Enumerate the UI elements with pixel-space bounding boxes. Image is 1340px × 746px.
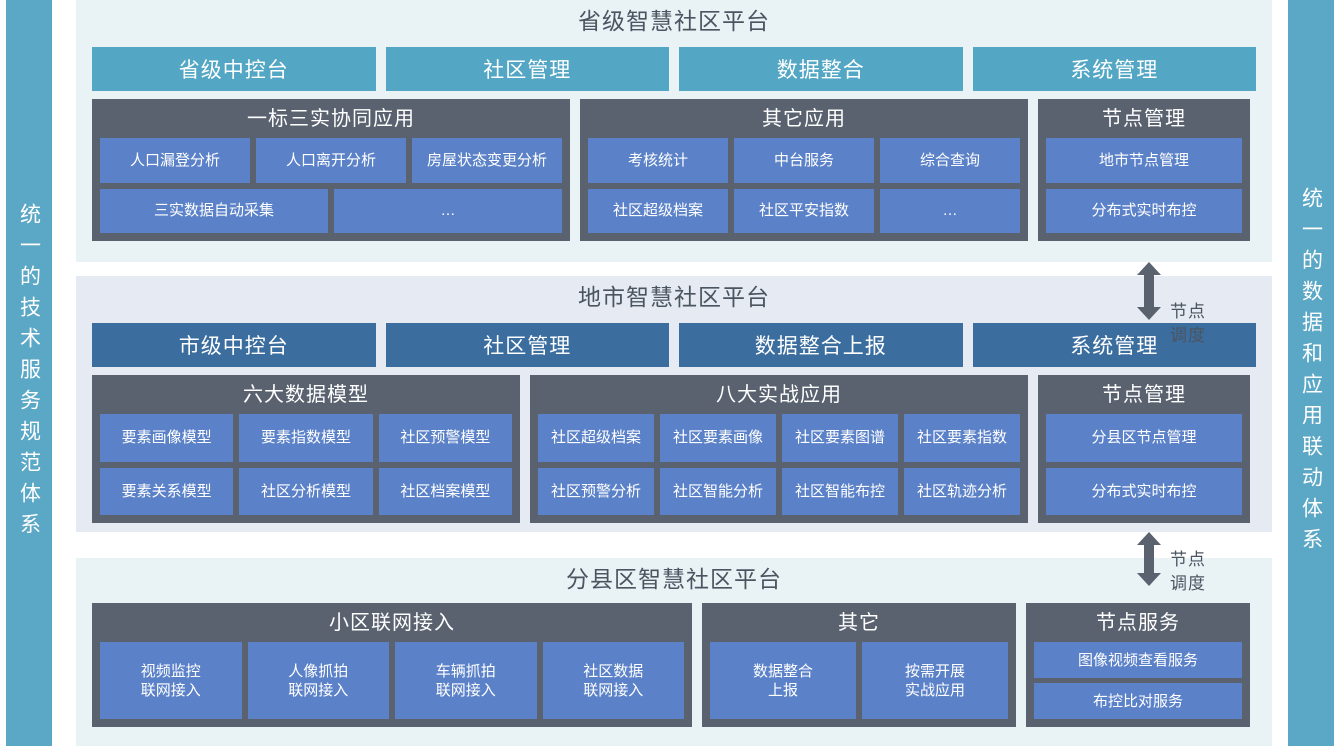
group-title: 其它: [710, 609, 1008, 637]
tile[interactable]: 人像抓拍 联网接入: [248, 642, 390, 719]
tile-grid: 分县区节点管理 分布式实时布控: [1046, 414, 1242, 515]
tile[interactable]: 布控比对服务: [1034, 683, 1242, 719]
tile-row: 图像视频查看服务: [1034, 642, 1242, 678]
tile[interactable]: 中台服务: [734, 138, 874, 183]
tile[interactable]: 社区要素指数: [904, 414, 1020, 462]
tile-row: 考核统计 中台服务 综合查询: [588, 138, 1020, 183]
tile[interactable]: 人口漏登分析: [100, 138, 250, 183]
tile-row: 要素关系模型 社区分析模型 社区档案模型: [100, 468, 512, 516]
left-side-bar: 统一的技术服务规范体系: [6, 0, 52, 746]
tile[interactable]: 要素关系模型: [100, 468, 233, 516]
district-platform-panel: 分县区智慧社区平台 小区联网接入 视频监控 联网接入 人像抓拍 联网接入 车辆抓…: [76, 558, 1272, 746]
right-side-bar: 统一的数据和应用联动体系: [1288, 0, 1334, 746]
province-nav-item-1[interactable]: 社区管理: [386, 47, 670, 91]
tile[interactable]: 视频监控 联网接入: [100, 642, 242, 719]
city-nav-item-2[interactable]: 数据整合上报: [679, 323, 963, 367]
tile[interactable]: 图像视频查看服务: [1034, 642, 1242, 678]
tile[interactable]: 社区平安指数: [734, 189, 874, 234]
province-nav-item-0[interactable]: 省级中控台: [92, 47, 376, 91]
tile-grid: 数据整合 上报 按需开展 实战应用: [710, 642, 1008, 719]
province-panel-title: 省级智慧社区平台: [76, 0, 1272, 33]
tile[interactable]: 分布式实时布控: [1046, 468, 1242, 516]
tile[interactable]: 社区智能布控: [782, 468, 898, 516]
tile-row: 人口漏登分析 人口离开分析 房屋状态变更分析: [100, 138, 562, 183]
group-title: 节点服务: [1034, 609, 1242, 637]
tile[interactable]: 社区档案模型: [379, 468, 512, 516]
node-dispatch-arrow-upper: [1136, 262, 1162, 320]
district-group-other: 其它 数据整合 上报 按需开展 实战应用: [702, 603, 1016, 727]
tile[interactable]: 三实数据自动采集: [100, 189, 328, 234]
tile-row: 社区预警分析 社区智能分析 社区智能布控 社区轨迹分析: [538, 468, 1020, 516]
province-platform-panel: 省级智慧社区平台 省级中控台 社区管理 数据整合 系统管理 一标三实协同应用 人…: [76, 0, 1272, 262]
province-group-coordinated-app: 一标三实协同应用 人口漏登分析 人口离开分析 房屋状态变更分析 三实数据自动采集…: [92, 99, 570, 241]
group-title: 六大数据模型: [100, 381, 512, 409]
tile[interactable]: 考核统计: [588, 138, 728, 183]
tile[interactable]: 社区要素图谱: [782, 414, 898, 462]
tile-grid: 人口漏登分析 人口离开分析 房屋状态变更分析 三实数据自动采集 …: [100, 138, 562, 233]
city-group-node-management: 节点管理 分县区节点管理 分布式实时布控: [1038, 375, 1250, 523]
group-title: 节点管理: [1046, 105, 1242, 133]
city-nav-item-1[interactable]: 社区管理: [386, 323, 670, 367]
province-nav-item-2[interactable]: 数据整合: [679, 47, 963, 91]
node-dispatch-label-lower: 节点 调度: [1170, 548, 1206, 596]
tile[interactable]: 分县区节点管理: [1046, 414, 1242, 462]
district-group-row: 小区联网接入 视频监控 联网接入 人像抓拍 联网接入 车辆抓拍 联网接入 社区数…: [92, 603, 1256, 727]
tile[interactable]: 综合查询: [880, 138, 1020, 183]
tile-row: 要素画像模型 要素指数模型 社区预警模型: [100, 414, 512, 462]
group-title: 小区联网接入: [100, 609, 684, 637]
tile[interactable]: …: [880, 189, 1020, 234]
tile[interactable]: 社区超级档案: [588, 189, 728, 234]
tile-row: 分布式实时布控: [1046, 189, 1242, 234]
node-dispatch-arrow-lower: [1136, 532, 1162, 586]
tile[interactable]: 地市节点管理: [1046, 138, 1242, 183]
tile[interactable]: 社区数据 联网接入: [543, 642, 685, 719]
province-group-row: 一标三实协同应用 人口漏登分析 人口离开分析 房屋状态变更分析 三实数据自动采集…: [92, 99, 1256, 241]
tile-row: 三实数据自动采集 …: [100, 189, 562, 234]
tile[interactable]: 数据整合 上报: [710, 642, 856, 719]
left-side-bar-label: 统一的技术服务规范体系: [19, 203, 40, 544]
city-panel-title: 地市智慧社区平台: [76, 276, 1272, 309]
tile[interactable]: 社区超级档案: [538, 414, 654, 462]
tile-row: 分布式实时布控: [1046, 468, 1242, 516]
right-side-bar-label: 统一的数据和应用联动体系: [1301, 187, 1322, 559]
province-nav-item-3[interactable]: 系统管理: [973, 47, 1257, 91]
tile-grid: 社区超级档案 社区要素画像 社区要素图谱 社区要素指数 社区预警分析 社区智能分…: [538, 414, 1020, 515]
tile[interactable]: 按需开展 实战应用: [862, 642, 1008, 719]
tile-grid: 图像视频查看服务 布控比对服务: [1034, 642, 1242, 719]
tile-row: 布控比对服务: [1034, 683, 1242, 719]
tile[interactable]: 分布式实时布控: [1046, 189, 1242, 234]
tile-row: 数据整合 上报 按需开展 实战应用: [710, 642, 1008, 719]
city-group-data-models: 六大数据模型 要素画像模型 要素指数模型 社区预警模型 要素关系模型 社区分析模…: [92, 375, 520, 523]
tile[interactable]: 要素指数模型: [239, 414, 372, 462]
tile-row: 社区超级档案 社区要素画像 社区要素图谱 社区要素指数: [538, 414, 1020, 462]
tile-grid: 考核统计 中台服务 综合查询 社区超级档案 社区平安指数 …: [588, 138, 1020, 233]
city-platform-panel: 地市智慧社区平台 市级中控台 社区管理 数据整合上报 系统管理 六大数据模型 要…: [76, 276, 1272, 532]
architecture-diagram: 统一的技术服务规范体系 统一的数据和应用联动体系 省级智慧社区平台 省级中控台 …: [0, 0, 1340, 746]
city-group-practical-apps: 八大实战应用 社区超级档案 社区要素画像 社区要素图谱 社区要素指数 社区预警分…: [530, 375, 1028, 523]
tile[interactable]: 社区预警分析: [538, 468, 654, 516]
city-nav-item-0[interactable]: 市级中控台: [92, 323, 376, 367]
district-group-community-network-access: 小区联网接入 视频监控 联网接入 人像抓拍 联网接入 车辆抓拍 联网接入 社区数…: [92, 603, 692, 727]
tile[interactable]: 社区智能分析: [660, 468, 776, 516]
node-dispatch-label-upper: 节点 调度: [1170, 300, 1206, 348]
tile-row: 地市节点管理: [1046, 138, 1242, 183]
district-panel-title: 分县区智慧社区平台: [76, 558, 1272, 591]
group-title: 节点管理: [1046, 381, 1242, 409]
tile-grid: 视频监控 联网接入 人像抓拍 联网接入 车辆抓拍 联网接入 社区数据 联网接入: [100, 642, 684, 719]
city-nav-item-3[interactable]: 系统管理: [973, 323, 1257, 367]
tile[interactable]: 社区轨迹分析: [904, 468, 1020, 516]
tile[interactable]: 社区要素画像: [660, 414, 776, 462]
city-group-row: 六大数据模型 要素画像模型 要素指数模型 社区预警模型 要素关系模型 社区分析模…: [92, 375, 1256, 523]
tile[interactable]: 社区分析模型: [239, 468, 372, 516]
tile-row: 视频监控 联网接入 人像抓拍 联网接入 车辆抓拍 联网接入 社区数据 联网接入: [100, 642, 684, 719]
district-group-node-service: 节点服务 图像视频查看服务 布控比对服务: [1026, 603, 1250, 727]
group-title: 其它应用: [588, 105, 1020, 133]
tile[interactable]: 房屋状态变更分析: [412, 138, 562, 183]
province-group-other-app: 其它应用 考核统计 中台服务 综合查询 社区超级档案 社区平安指数 …: [580, 99, 1028, 241]
group-title: 八大实战应用: [538, 381, 1020, 409]
group-title: 一标三实协同应用: [100, 105, 562, 133]
tile[interactable]: 社区预警模型: [379, 414, 512, 462]
city-nav-row: 市级中控台 社区管理 数据整合上报 系统管理: [92, 323, 1256, 367]
province-group-node-management: 节点管理 地市节点管理 分布式实时布控: [1038, 99, 1250, 241]
province-nav-row: 省级中控台 社区管理 数据整合 系统管理: [92, 47, 1256, 91]
tile[interactable]: 要素画像模型: [100, 414, 233, 462]
tile-row: 社区超级档案 社区平安指数 …: [588, 189, 1020, 234]
tile[interactable]: …: [334, 189, 562, 234]
tile[interactable]: 人口离开分析: [256, 138, 406, 183]
tile-grid: 要素画像模型 要素指数模型 社区预警模型 要素关系模型 社区分析模型 社区档案模…: [100, 414, 512, 515]
tile[interactable]: 车辆抓拍 联网接入: [395, 642, 537, 719]
tile-row: 分县区节点管理: [1046, 414, 1242, 462]
tile-grid: 地市节点管理 分布式实时布控: [1046, 138, 1242, 233]
